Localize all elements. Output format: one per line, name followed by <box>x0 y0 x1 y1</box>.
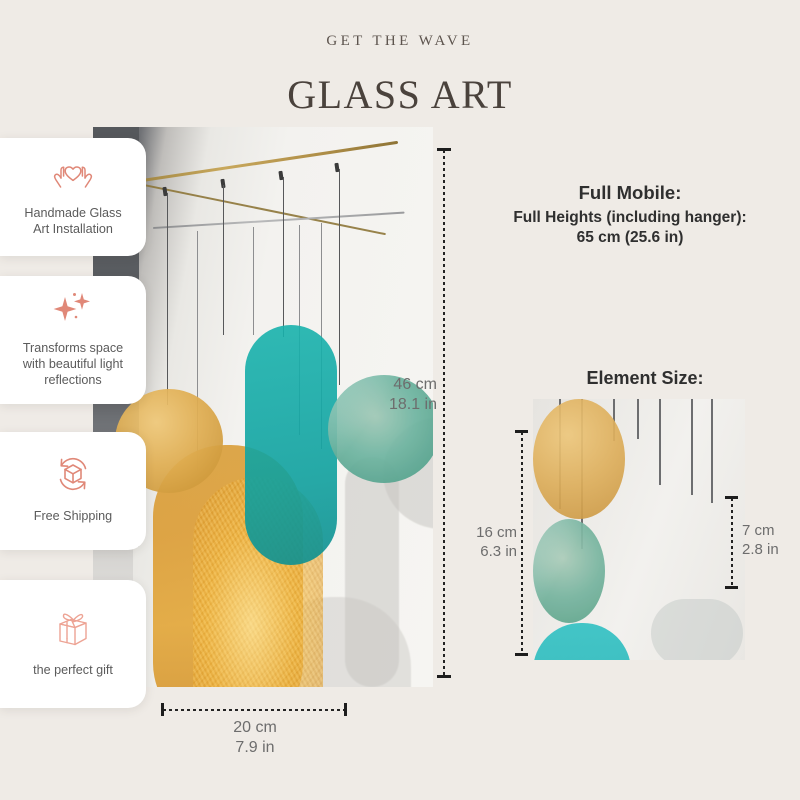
hanging-string <box>711 399 713 503</box>
page-title: GLASS ART <box>0 71 800 118</box>
element-right-in: 2.8 in <box>742 540 800 559</box>
feature-label: Transforms spacewith beautiful lightrefl… <box>23 340 123 388</box>
hanging-string <box>691 399 693 495</box>
hanging-string <box>659 399 661 485</box>
element-size-heading: Element Size: <box>500 368 790 389</box>
hanging-string <box>283 177 284 337</box>
glass-piece-amber <box>533 399 625 519</box>
hanging-string <box>223 185 224 335</box>
ruler-cap-top <box>725 496 738 499</box>
element-closeup-photo <box>533 399 745 660</box>
full-mobile-info: Full Mobile: Full Heights (including han… <box>470 182 790 248</box>
main-width-in: 7.9 in <box>195 738 315 758</box>
glass-shadow <box>651 599 743 660</box>
glass-piece-teal-oblong <box>245 325 337 565</box>
element-right-ruler <box>731 498 733 588</box>
feature-card-gift[interactable]: the perfect gift <box>0 580 146 708</box>
element-right-cm: 7 cm <box>742 521 800 540</box>
box-rotate-icon <box>52 455 94 498</box>
hanging-string <box>167 193 168 405</box>
ruler-cap-top <box>437 148 451 151</box>
ruler-cap-left <box>161 703 164 716</box>
element-left-in: 6.3 in <box>451 542 517 561</box>
ruler-cap-bottom <box>515 653 528 656</box>
element-left-cm: 16 cm <box>451 523 517 542</box>
feature-label: Handmade GlassArt Installation <box>24 205 121 237</box>
ruler-cap-top <box>515 430 528 433</box>
main-width-ruler <box>163 709 347 711</box>
ruler-cap-bottom <box>437 675 451 678</box>
main-width-label: 20 cm 7.9 in <box>195 718 315 758</box>
element-left-ruler <box>521 432 523 655</box>
feature-label: Free Shipping <box>34 508 112 524</box>
hanging-string <box>637 399 639 439</box>
gift-icon <box>51 607 95 652</box>
infographic-canvas: GET THE WAVE GLASS ART <box>0 0 800 800</box>
main-height-in: 18.1 in <box>377 395 437 415</box>
hanging-string <box>253 227 254 335</box>
feature-label: the perfect gift <box>33 662 113 678</box>
feature-card-shipping[interactable]: Free Shipping <box>0 432 146 550</box>
kicker-text: GET THE WAVE <box>0 33 800 50</box>
feature-card-reflections[interactable]: Transforms spacewith beautiful lightrefl… <box>0 276 146 404</box>
full-mobile-detail-line1: Full Heights (including hanger): <box>470 208 790 228</box>
hanging-string <box>339 169 340 385</box>
main-height-cm: 46 cm <box>377 375 437 395</box>
element-left-label: 16 cm 6.3 in <box>451 523 517 561</box>
sparkles-icon <box>49 289 97 330</box>
feature-card-handmade[interactable]: Handmade GlassArt Installation <box>0 138 146 256</box>
ruler-cap-right <box>344 703 347 716</box>
full-mobile-detail-line2: 65 cm (25.6 in) <box>470 228 790 248</box>
main-height-ruler <box>443 150 445 677</box>
main-width-cm: 20 cm <box>195 718 315 738</box>
ruler-cap-bottom <box>725 586 738 589</box>
glass-piece-sage <box>533 519 605 623</box>
hands-heart-icon <box>51 154 95 195</box>
element-right-label: 7 cm 2.8 in <box>742 521 800 559</box>
main-height-label: 46 cm 18.1 in <box>377 375 437 415</box>
full-mobile-heading: Full Mobile: <box>470 182 790 204</box>
